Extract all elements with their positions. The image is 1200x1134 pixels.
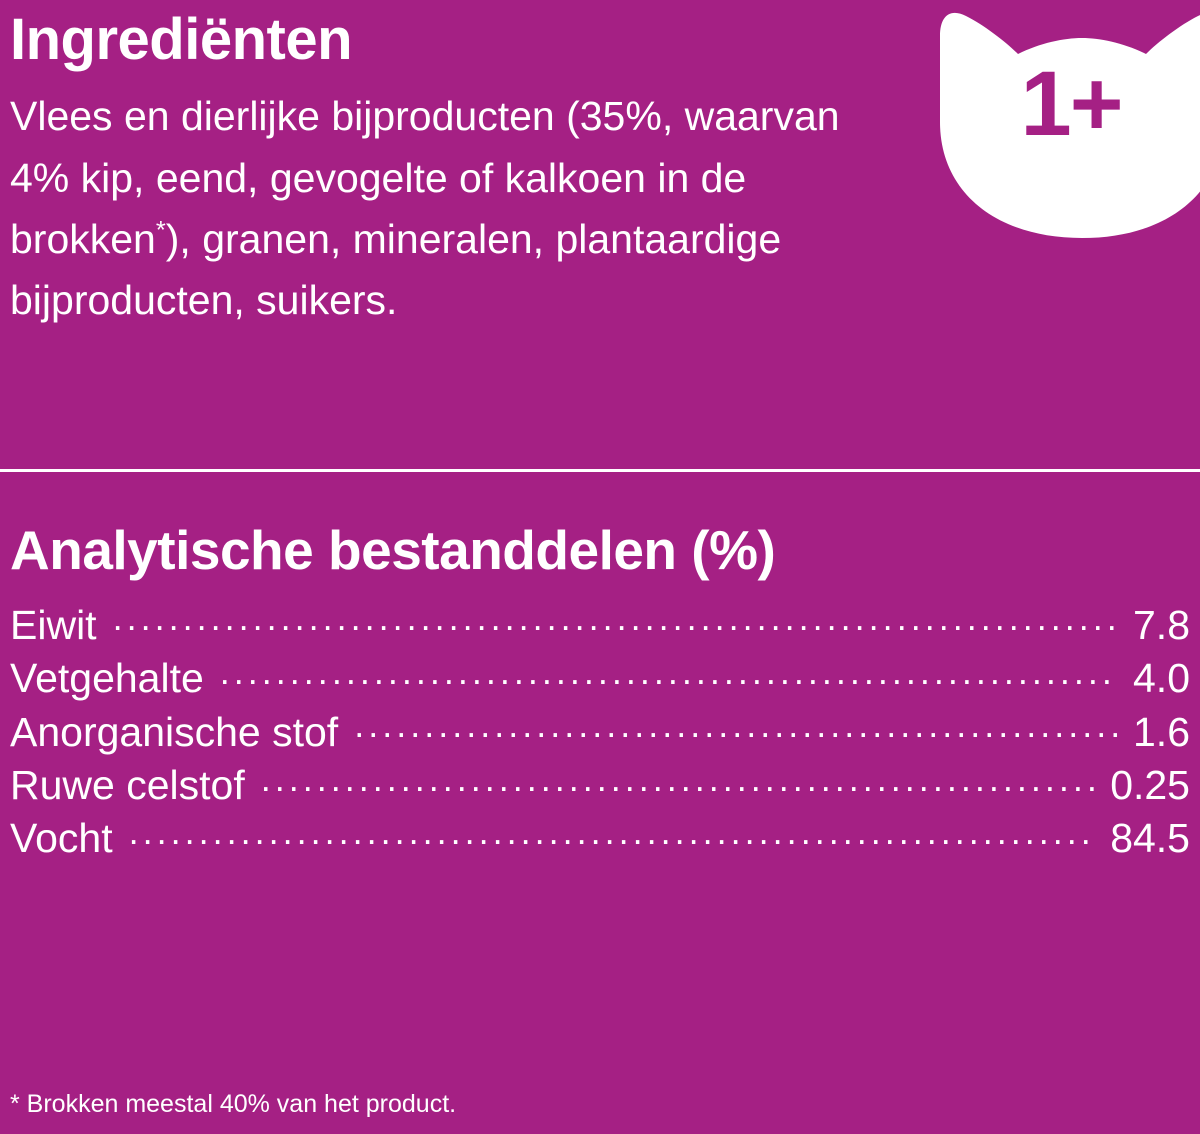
nutrient-value: 7.8 [1123, 599, 1190, 651]
ingredients-asterisk: * [156, 216, 166, 244]
section-divider [0, 469, 1200, 472]
table-row: Vetgehalte 4.0 [10, 651, 1190, 704]
ingredients-heading: Ingrediënten [10, 6, 1190, 74]
leader-dots [220, 651, 1117, 692]
nutrition-label-panel: 1+ Ingrediënten Vlees en dierlijke bijpr… [0, 0, 1200, 1134]
nutrient-label: Vocht [10, 812, 123, 864]
nutrient-value: 4.0 [1123, 652, 1190, 704]
nutrient-label: Anorganische stof [10, 706, 348, 758]
footnote-text: * Brokken meestal 40% van het product. [10, 1088, 456, 1121]
table-row: Vocht 84.5 [10, 811, 1190, 864]
nutrient-label: Ruwe celstof [10, 759, 255, 811]
table-row: Ruwe celstof 0.25 [10, 758, 1190, 811]
nutrient-table: Eiwit 7.8 Vetgehalte 4.0 Anorganische st… [10, 598, 1190, 865]
table-row: Anorganische stof 1.6 [10, 705, 1190, 758]
nutrient-value: 84.5 [1100, 812, 1190, 864]
leader-dots [261, 758, 1094, 799]
ingredients-body: Vlees en dierlijke bijproducten (35%, wa… [10, 86, 870, 330]
nutrient-label: Eiwit [10, 599, 107, 651]
ingredients-section: Ingrediënten Vlees en dierlijke bijprodu… [0, 0, 1200, 331]
leader-dots [113, 598, 1117, 639]
nutrient-label: Vetgehalte [10, 652, 214, 704]
analytical-section: Analytische bestanddelen (%) Eiwit 7.8 V… [0, 520, 1200, 865]
analytical-heading: Analytische bestanddelen (%) [10, 520, 1190, 582]
leader-dots [354, 705, 1117, 746]
leader-dots [129, 811, 1095, 852]
nutrient-value: 1.6 [1123, 706, 1190, 758]
nutrient-value: 0.25 [1100, 759, 1190, 811]
table-row: Eiwit 7.8 [10, 598, 1190, 651]
